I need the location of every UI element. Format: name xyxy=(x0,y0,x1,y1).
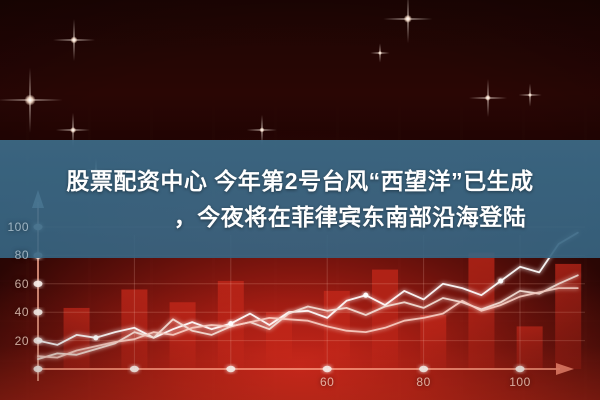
headline-band: 股票配资中心 今年第2号台风“西望洋”已生成 ，今夜将在菲律宾东南部沿海登陆 xyxy=(0,140,600,258)
banner-image: 股票配资中心 今年第2号台风“西望洋”已生成 ，今夜将在菲律宾东南部沿海登陆 2… xyxy=(0,0,600,400)
headline-line-1: 股票配资中心 今年第2号台风“西望洋”已生成 xyxy=(66,164,533,198)
headline-line-2: ，今夜将在菲律宾东南部沿海登陆 xyxy=(74,200,527,234)
